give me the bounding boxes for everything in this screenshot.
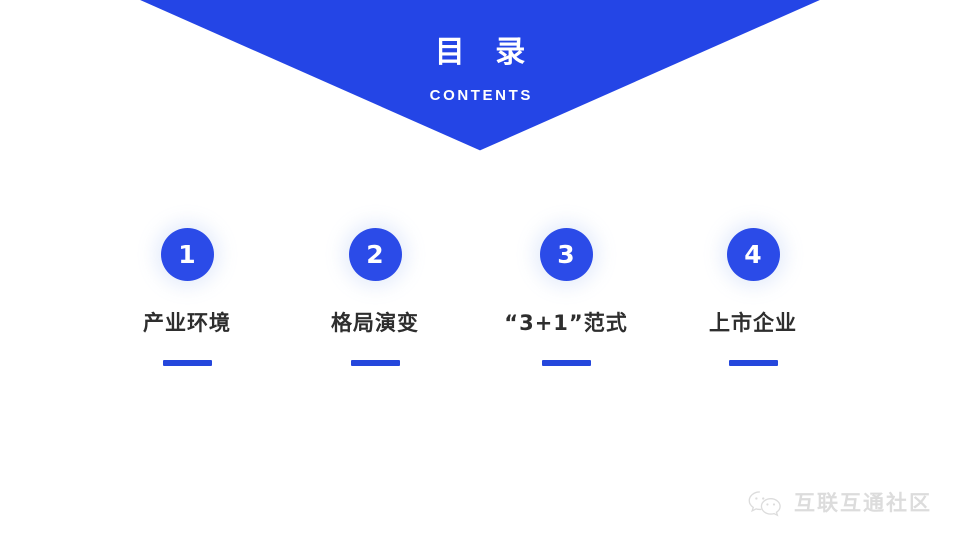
- wechat-icon: [746, 488, 784, 518]
- underline-accent: [351, 360, 400, 366]
- contents-item-label: “3+1”范式: [504, 313, 627, 334]
- contents-item-3[interactable]: 3 “3+1”范式: [471, 228, 661, 366]
- number-badge-label: 1: [178, 242, 195, 267]
- contents-item-4[interactable]: 4 上市企业: [658, 228, 848, 366]
- contents-item-label: 格局演变: [331, 313, 419, 334]
- banner: 目 录 CONTENTS: [0, 0, 960, 160]
- number-badge-label: 3: [557, 242, 574, 267]
- banner-chevron-shape: [0, 0, 960, 160]
- underline-accent: [542, 360, 591, 366]
- contents-item-label: 产业环境: [143, 313, 231, 334]
- underline-accent: [163, 360, 212, 366]
- number-badge-label: 2: [366, 242, 383, 267]
- contents-list: 1 产业环境 2 格局演变 3 “3+1”范式 4 上市企业: [0, 228, 960, 418]
- number-badge-2[interactable]: 2: [349, 228, 402, 281]
- number-badge-3[interactable]: 3: [540, 228, 593, 281]
- underline-accent: [729, 360, 778, 366]
- watermark: 互联互通社区: [746, 488, 932, 518]
- watermark-label: 互联互通社区: [794, 493, 932, 514]
- contents-item-2[interactable]: 2 格局演变: [280, 228, 470, 366]
- contents-item-1[interactable]: 1 产业环境: [92, 228, 282, 366]
- number-badge-1[interactable]: 1: [161, 228, 214, 281]
- number-badge-label: 4: [744, 242, 761, 267]
- number-badge-4[interactable]: 4: [727, 228, 780, 281]
- slide-canvas: 目 录 CONTENTS 1 产业环境 2 格局演变 3 “3+1”范式: [0, 0, 960, 540]
- contents-item-label: 上市企业: [709, 313, 797, 334]
